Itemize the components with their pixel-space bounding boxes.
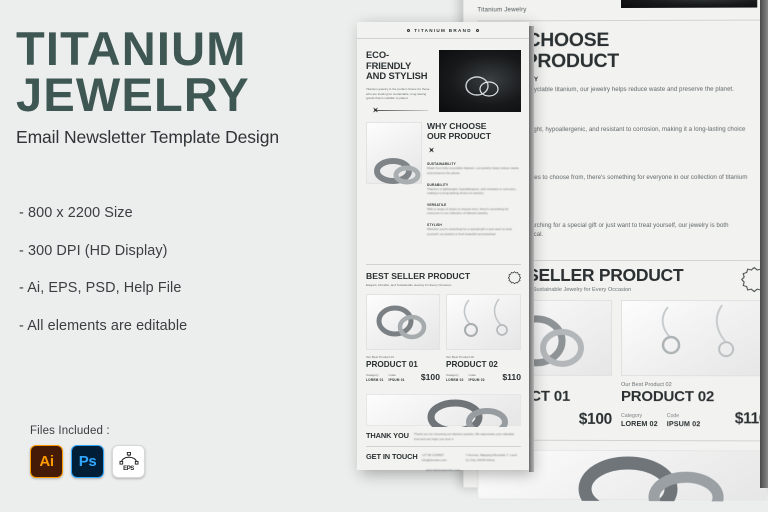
rings-illustration xyxy=(367,295,441,351)
category-value: LOREM 01 xyxy=(366,378,384,382)
code-value: IPSUM 02 xyxy=(667,419,701,428)
divider xyxy=(366,264,521,265)
newsletter-preview-mid[interactable]: TITANIUM BRAND ECO-FRIENDLY AND STYLISH … xyxy=(357,22,529,470)
screenshot-canvas: TITANIUM JEWELRY Email Newsletter Templa… xyxy=(0,0,768,512)
thank-you-section: THANK YOU Thank you for choosing our tit… xyxy=(366,431,521,441)
files-included-block: Files Included : Ai Ps EPS xyxy=(30,425,145,478)
page-title-line-1: TITANIUM xyxy=(16,26,336,72)
product-photo-01 xyxy=(366,294,440,350)
divider xyxy=(366,446,521,447)
page-subtitle: Email Newsletter Template Design xyxy=(16,127,336,148)
list-item: - All elements are editable xyxy=(19,318,339,334)
product-name: PRODUCT 01 xyxy=(366,360,440,369)
get-in-touch-section: GET IN TOUCH +27 85 1234567 info@domain.… xyxy=(366,452,521,462)
hero-title-block: TITANIUM JEWELRY Email Newsletter Templa… xyxy=(16,26,336,148)
why-choose-heading-line-2: OUR PRODUCT xyxy=(427,132,521,142)
website-url: www.titaniumjewelry.com xyxy=(357,468,529,473)
brand-bar: TITANIUM BRAND xyxy=(357,22,529,39)
hero-product-photo xyxy=(621,0,757,8)
adobe-photoshop-icon: Ps xyxy=(71,445,104,478)
product-block-02: Our Best Product 02 PRODUCT 02 Category … xyxy=(621,382,767,428)
hero-heading-line-2: AND STYLISH xyxy=(366,71,434,82)
eps-label: EPS xyxy=(123,466,134,472)
section-body: Whether you're searching for a special g… xyxy=(427,227,521,236)
why-choose-item: SUSTAINABILITY Made from fully recyclabl… xyxy=(427,162,521,175)
rings-illustration xyxy=(367,395,522,427)
why-choose-item: DURABILITY Titanium is lightweight, hypo… xyxy=(427,183,521,196)
best-seller-heading: BEST SELLER PRODUCT xyxy=(366,271,470,281)
product-name: PRODUCT 02 xyxy=(621,388,767,405)
product-block-01: Our Best Product 01 PRODUCT 01 Category … xyxy=(366,355,440,382)
product-price: $100 xyxy=(421,372,440,382)
pen-tool-icon xyxy=(119,452,139,465)
hero-heading-line-1: ECO-FRIENDLY xyxy=(366,50,434,71)
circle-icon-right xyxy=(476,29,479,32)
diamond-divider xyxy=(366,107,428,114)
divider xyxy=(477,20,767,21)
product-info-column: TITANIUM JEWELRY Email Newsletter Templa… xyxy=(16,0,346,512)
circle-icon-left xyxy=(407,29,410,32)
earrings-illustration xyxy=(622,301,768,377)
list-item: - 300 DPI (HD Display) xyxy=(19,243,339,259)
best-seller-header: BEST SELLER PRODUCT Elegant, Durable, an… xyxy=(366,271,521,287)
earrings-illustration xyxy=(447,295,522,351)
get-in-touch-heading: GET IN TOUCH xyxy=(366,452,418,461)
category-value: LOREM 02 xyxy=(621,419,658,428)
best-seller-subtitle: Elegant, Durable, and Sustainable Jewelr… xyxy=(366,283,470,288)
section-body: With a range of styles to choose from, t… xyxy=(427,207,521,216)
contact-address: 7 Avenue, Mapping Mountain 7, Land Cy Ci… xyxy=(466,453,521,462)
list-item: - 800 x 2200 Size xyxy=(19,205,339,221)
feature-list: - 800 x 2200 Size - 300 DPI (HD Display)… xyxy=(19,205,339,355)
secondary-product-photo xyxy=(366,122,422,184)
right-panel-top-label: Titanium Jewelry xyxy=(477,6,526,13)
product-photo-02 xyxy=(621,300,767,376)
files-icon-row: Ai Ps EPS xyxy=(30,445,145,478)
section-body: Titanium is lightweight, hypoallergenic,… xyxy=(427,187,521,196)
adobe-illustrator-icon: Ai xyxy=(30,445,63,478)
right-panel-edge xyxy=(760,0,768,488)
page-title-line-2: JEWELRY xyxy=(16,72,336,118)
section-body: Made from fully recyclable titanium, our… xyxy=(427,166,521,175)
why-choose-section: WHY CHOOSE OUR PRODUCT SUSTAINABILITY Ma… xyxy=(427,122,521,236)
rings-illustration xyxy=(439,50,521,112)
hero-product-photo xyxy=(439,50,521,112)
list-item: - Ai, EPS, PSD, Help File xyxy=(19,280,339,296)
footer-product-photo xyxy=(366,394,521,426)
category-value: LOREM 02 xyxy=(446,378,464,382)
starburst-icon xyxy=(508,271,521,284)
thank-you-heading: THANK YOU xyxy=(366,431,409,440)
why-choose-item: VERSATILE With a range of styles to choo… xyxy=(427,203,521,216)
eps-file-icon: EPS xyxy=(112,445,145,478)
product-price: $110 xyxy=(502,372,521,382)
files-included-label: Files Included : xyxy=(30,425,145,437)
code-value: IPSUM 02 xyxy=(469,378,485,382)
thank-you-body: Thank you for choosing our titanium jewe… xyxy=(414,432,521,441)
why-choose-item: STYLISH Whether you're searching for a s… xyxy=(427,223,521,236)
hero-body: Titanium jewelry is the perfect choice f… xyxy=(366,87,434,101)
product-name: PRODUCT 02 xyxy=(446,360,521,369)
code-value: IPSUM 01 xyxy=(389,378,405,382)
product-block-02: Our Best Product 02 PRODUCT 02 Category … xyxy=(446,355,521,382)
product-price: $100 xyxy=(579,411,612,429)
contact-email: info@domain.com xyxy=(422,458,462,463)
diamond-divider xyxy=(422,146,492,153)
brand-name: TITANIUM BRAND xyxy=(414,28,472,33)
rings-illustration xyxy=(367,123,423,185)
mid-panel-edge xyxy=(529,26,534,472)
product-photo-02 xyxy=(446,294,521,350)
